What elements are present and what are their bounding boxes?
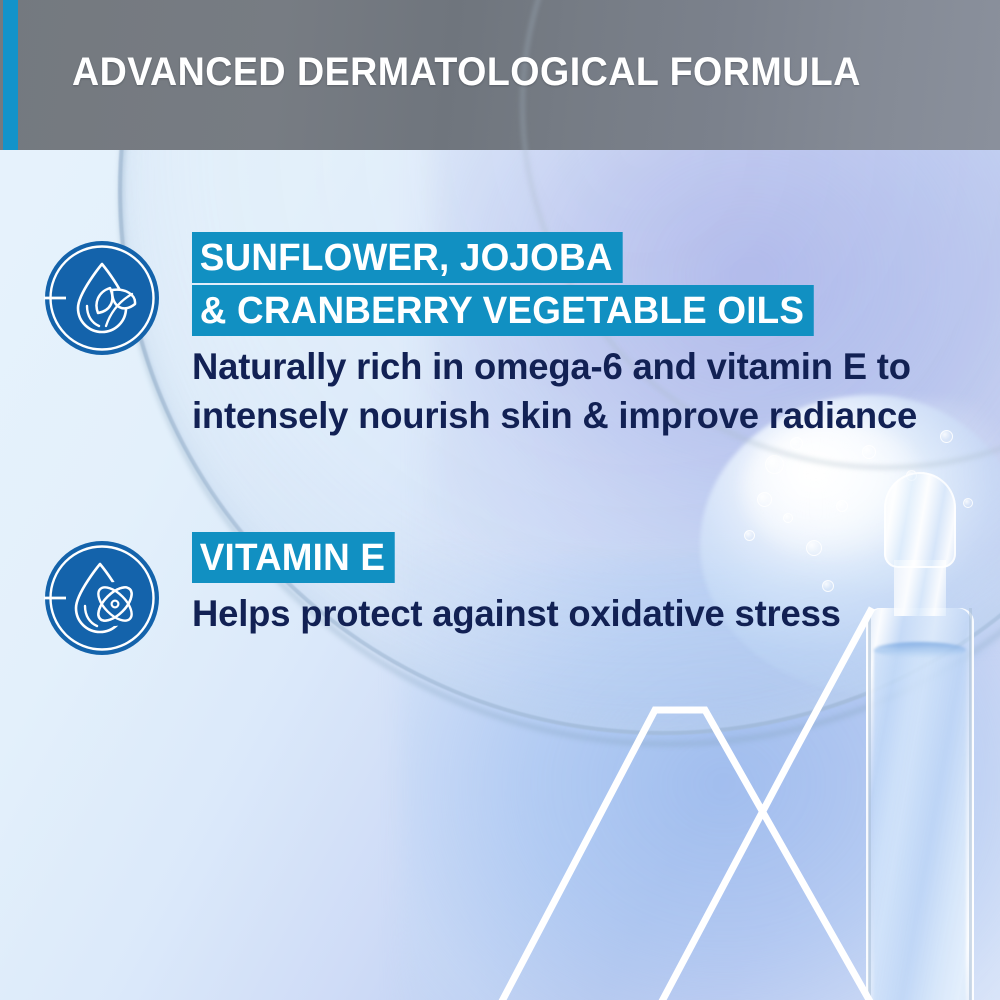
- bubble-icon: [765, 455, 784, 474]
- feature-body-vitamin-e: Helps protect against oxidative stress: [192, 590, 851, 639]
- ampoule-liquid: [874, 650, 966, 1000]
- heading-line: VITAMIN E: [192, 532, 395, 583]
- feature-text-oils: SUNFLOWER, JOJOBA & CRANBERRY VEGETABLE …: [192, 232, 928, 441]
- ampoule-edge-left: [868, 608, 871, 1000]
- feature-heading-vitamin-e: VITAMIN E: [192, 532, 851, 583]
- heading-line: SUNFLOWER, JOJOBA: [192, 232, 622, 283]
- feature-body-oils: Naturally rich in omega-6 and vitamin E …: [192, 343, 928, 441]
- product-feature-poster: ADVANCED DERMATOLOGICAL FORMULA SUNFLOWE…: [0, 0, 1000, 1000]
- feature-text-vitamin-e: VITAMIN E Helps protect against oxidativ…: [192, 532, 851, 639]
- header-accent-bar: [3, 0, 18, 150]
- bubble-icon: [783, 513, 793, 523]
- droplet-molecule-icon: [44, 540, 160, 656]
- bubble-icon: [836, 500, 848, 512]
- page-title: ADVANCED DERMATOLOGICAL FORMULA: [72, 50, 861, 95]
- body-line: intensely nourish skin & improve radianc…: [192, 392, 917, 441]
- ampoule-meniscus: [874, 642, 966, 658]
- bubble-icon: [757, 492, 772, 507]
- ampoule-waist: [894, 560, 946, 616]
- glass-ampoule: [862, 472, 978, 1000]
- ampoule-neck: [884, 472, 956, 568]
- ampoule-edge-right: [969, 608, 972, 1000]
- header-band: ADVANCED DERMATOLOGICAL FORMULA: [0, 0, 1000, 150]
- feature-heading-oils: SUNFLOWER, JOJOBA & CRANBERRY VEGETABLE …: [192, 232, 928, 336]
- body-line: Helps protect against oxidative stress: [192, 590, 841, 639]
- droplet-leaf-icon: [44, 240, 160, 356]
- body-line: Naturally rich in omega-6 and vitamin E …: [192, 343, 917, 392]
- heading-line: & CRANBERRY VEGETABLE OILS: [192, 285, 814, 336]
